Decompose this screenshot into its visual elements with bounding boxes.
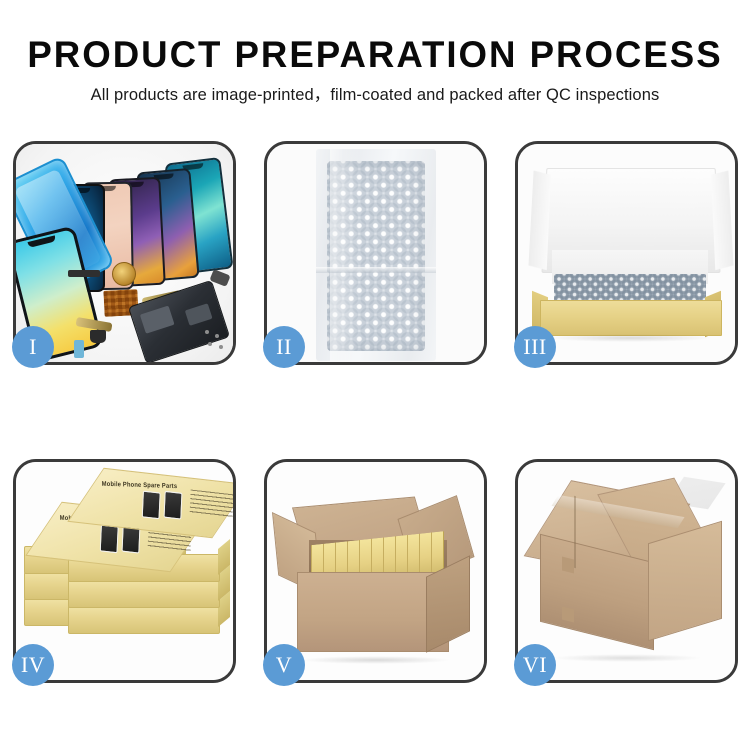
open-carton-illustration — [267, 462, 484, 680]
speaker-mesh-icon — [68, 270, 100, 277]
bubble-wrap-sheet — [316, 149, 436, 361]
box-spec-lines — [190, 489, 233, 517]
step-image-bubble-wrap-packing — [267, 144, 484, 362]
speaker-part-icon — [90, 330, 106, 343]
step-image-carton-filling — [267, 462, 484, 680]
coil-part-icon — [112, 262, 136, 286]
bubble-wrap-seam — [316, 267, 436, 273]
product-preparation-infographic: PRODUCT PREPARATION PROCESS All products… — [0, 0, 750, 750]
step-image-products-and-spare-parts — [16, 144, 233, 362]
bubble-wrap-illustration — [267, 144, 484, 362]
sealed-carton-side-panel — [648, 521, 722, 642]
box-artwork-screen-2 — [164, 491, 183, 520]
sealed-carton-illustration — [518, 462, 735, 680]
carton-hand-hole-1 — [562, 557, 574, 574]
step-card-inner-box-packing[interactable]: III — [515, 141, 738, 365]
phones-parts-illustration — [16, 144, 233, 362]
step-badge-1: I — [12, 326, 54, 368]
kraft-box — [68, 606, 220, 634]
step-badge-6: VI — [514, 644, 556, 686]
step-badge-4: IV — [12, 644, 54, 686]
step-image-inner-box-packing — [518, 144, 735, 362]
carton-shadow — [301, 656, 451, 664]
mailer-box-shadow — [548, 334, 712, 342]
open-mailer-box-illustration — [518, 144, 735, 362]
box-label-text: Mobile Phone Spare Parts — [102, 480, 178, 490]
mailer-box-front-panel — [540, 300, 722, 336]
box-stack: Mobile Phone Spare Parts Mobile Phone Sp… — [22, 480, 230, 664]
screws-icon — [203, 328, 227, 352]
step-card-carton-filling[interactable]: V — [264, 459, 487, 683]
step-badge-3: III — [514, 326, 556, 368]
box-artwork-screen-1 — [142, 491, 161, 520]
step-card-products-and-spare-parts[interactable]: I — [13, 141, 236, 365]
step-card-sealed-carton[interactable]: VI — [515, 459, 738, 683]
step-image-sealed-carton — [518, 462, 735, 680]
sealed-carton-shadow — [552, 654, 702, 662]
step-card-bubble-wrap-packing[interactable]: II — [264, 141, 487, 365]
steps-grid: I II — [0, 0, 750, 750]
bubble-wrap-highlight — [330, 149, 360, 361]
button-part-icon — [74, 340, 84, 358]
stacked-boxes-illustration: Mobile Phone Spare Parts Mobile Phone Sp… — [16, 462, 233, 680]
step-image-stacked-inner-boxes: Mobile Phone Spare Parts Mobile Phone Sp… — [16, 462, 233, 680]
carton-hand-hole-2 — [562, 607, 574, 623]
step-badge-2: II — [263, 326, 305, 368]
step-badge-5: V — [263, 644, 305, 686]
kraft-box — [68, 580, 220, 608]
carton-seam-line — [574, 496, 576, 569]
step-card-stacked-inner-boxes[interactable]: Mobile Phone Spare Parts Mobile Phone Sp… — [13, 459, 236, 683]
box-artwork-screen-1 — [100, 525, 119, 554]
